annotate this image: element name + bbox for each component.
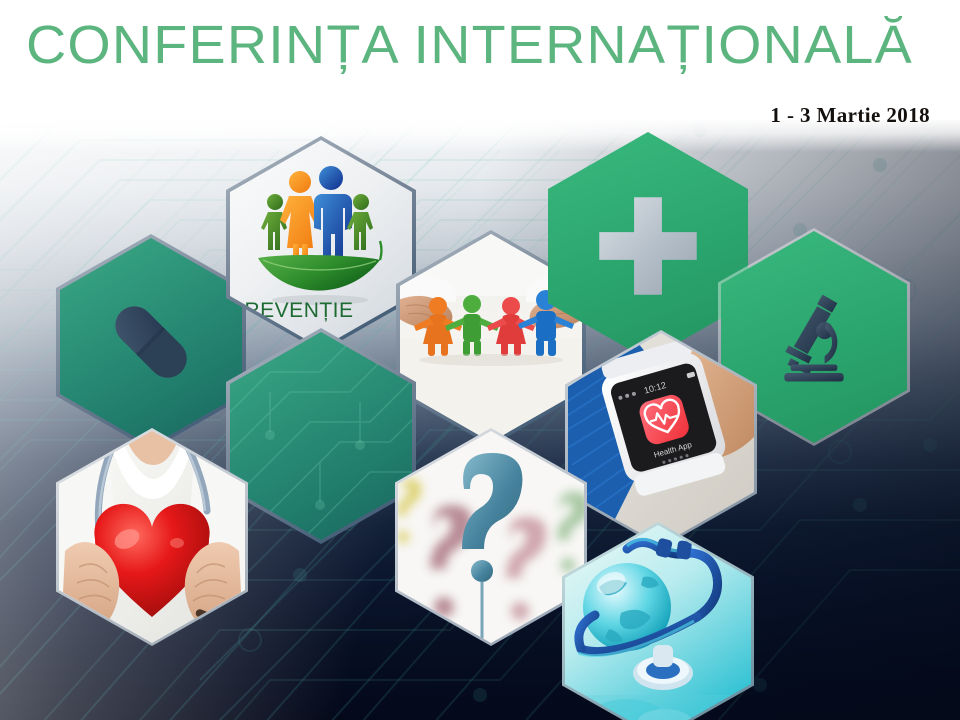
conference-date: 1 - 3 Martie 2018	[770, 103, 930, 128]
poster-canvas: CONFERINȚA INTERNAȚIONALĂ 1 - 3 Martie 2…	[0, 0, 960, 720]
logo-figure-father	[314, 166, 352, 262]
page-title: CONFERINȚA INTERNAȚIONALĂ	[26, 14, 913, 76]
